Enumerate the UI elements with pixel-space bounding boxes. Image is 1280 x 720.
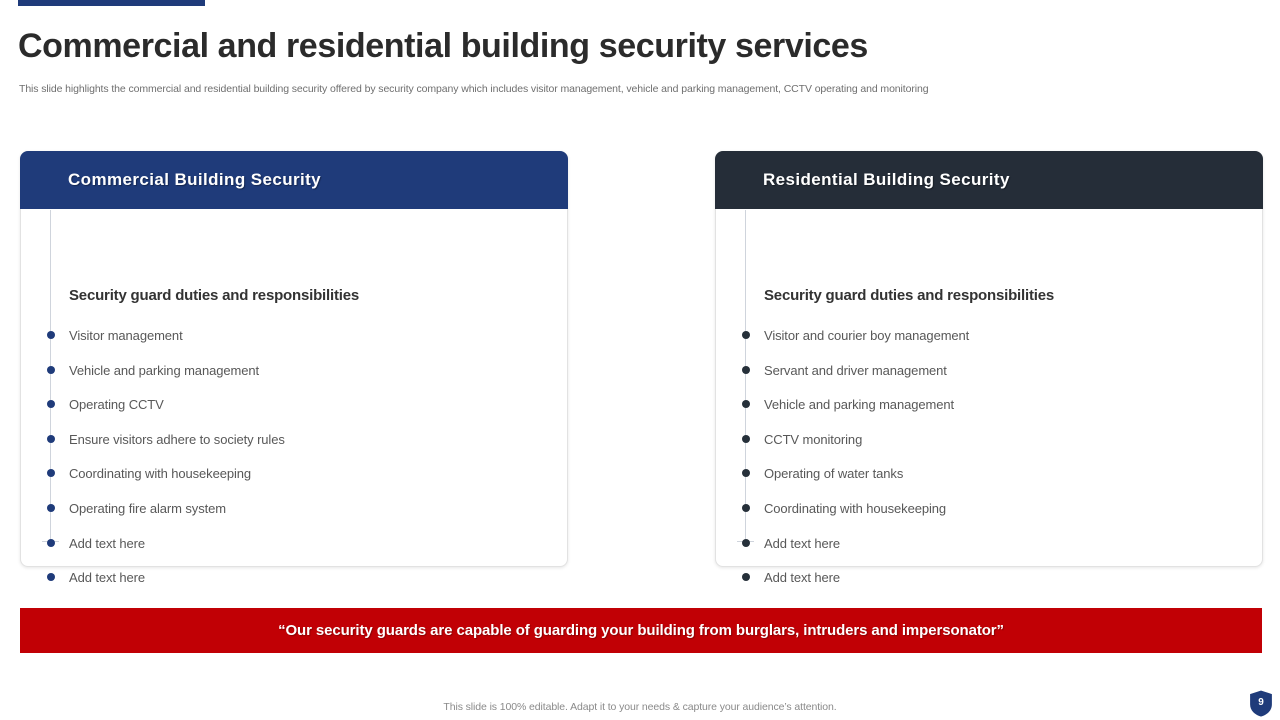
page-title: Commercial and residential building secu… — [18, 27, 868, 66]
page-subtitle: This slide highlights the commercial and… — [19, 83, 928, 95]
list-item: Coordinating with housekeeping — [21, 466, 567, 501]
list-item: Visitor and courier boy management — [716, 328, 1262, 363]
list-item-label: Servant and driver management — [764, 363, 947, 378]
list-item: Vehicle and parking management — [21, 363, 567, 398]
list-item-label: Add text here — [69, 570, 145, 585]
bullet-dot-icon — [742, 504, 750, 512]
list-item-label: Visitor and courier boy management — [764, 328, 969, 343]
bullet-dot-icon — [47, 539, 55, 547]
list-item: Add text here — [716, 570, 1262, 605]
list-item-label: Vehicle and parking management — [764, 397, 954, 412]
list-item-label: Visitor management — [69, 328, 183, 343]
bullet-list-residential: Visitor and courier boy management Serva… — [716, 328, 1262, 605]
list-item: Add text here — [21, 570, 567, 605]
bullet-dot-icon — [742, 331, 750, 339]
list-item-label: Vehicle and parking management — [69, 363, 259, 378]
footer-note: This slide is 100% editable. Adapt it to… — [0, 701, 1280, 713]
list-item: Operating fire alarm system — [21, 501, 567, 536]
bullet-dot-icon — [47, 366, 55, 374]
quote-text: “Our security guards are capable of guar… — [278, 622, 1004, 639]
bullet-dot-icon — [47, 573, 55, 581]
list-item: Operating of water tanks — [716, 466, 1262, 501]
section-title: Security guard duties and responsibiliti… — [69, 287, 359, 304]
section-title: Security guard duties and responsibiliti… — [764, 287, 1054, 304]
quote-banner: “Our security guards are capable of guar… — [20, 608, 1262, 653]
page-number-label: 9 — [1248, 689, 1274, 718]
list-item-label: Coordinating with housekeeping — [69, 466, 251, 481]
list-item: Operating CCTV — [21, 397, 567, 432]
bullet-dot-icon — [47, 504, 55, 512]
bullet-dot-icon — [742, 435, 750, 443]
card-header-residential: Residential Building Security — [715, 151, 1263, 209]
card-header-title: Commercial Building Security — [68, 170, 321, 190]
bullet-dot-icon — [47, 469, 55, 477]
card-header-title: Residential Building Security — [763, 170, 1010, 190]
page-number-badge: 9 — [1248, 689, 1274, 718]
top-accent-bar — [18, 0, 205, 6]
list-item-label: Operating fire alarm system — [69, 501, 226, 516]
list-item-label: CCTV monitoring — [764, 432, 862, 447]
bullet-dot-icon — [742, 366, 750, 374]
card-header-commercial: Commercial Building Security — [20, 151, 568, 209]
list-item-label: Ensure visitors adhere to society rules — [69, 432, 285, 447]
list-item-label: Add text here — [764, 536, 840, 551]
bullet-list-commercial: Visitor management Vehicle and parking m… — [21, 328, 567, 605]
list-item: Ensure visitors adhere to society rules — [21, 432, 567, 467]
list-item: Add text here — [716, 536, 1262, 571]
list-item-label: Add text here — [764, 570, 840, 585]
list-item: Vehicle and parking management — [716, 397, 1262, 432]
list-item: Coordinating with housekeeping — [716, 501, 1262, 536]
card-body-commercial: Security guard duties and responsibiliti… — [21, 210, 567, 567]
list-item-label: Add text here — [69, 536, 145, 551]
bullet-dot-icon — [742, 469, 750, 477]
list-item: Add text here — [21, 536, 567, 571]
list-item-label: Operating CCTV — [69, 397, 164, 412]
bullet-dot-icon — [47, 331, 55, 339]
list-item: CCTV monitoring — [716, 432, 1262, 467]
list-item-label: Operating of water tanks — [764, 466, 903, 481]
bullet-dot-icon — [742, 573, 750, 581]
card-commercial-building-security: Commercial Building Security Security gu… — [20, 151, 568, 567]
bullet-dot-icon — [742, 400, 750, 408]
list-item: Servant and driver management — [716, 363, 1262, 398]
list-item-label: Coordinating with housekeeping — [764, 501, 946, 516]
card-residential-building-security: Residential Building Security Security g… — [715, 151, 1263, 567]
bullet-dot-icon — [742, 539, 750, 547]
bullet-dot-icon — [47, 435, 55, 443]
bullet-dot-icon — [47, 400, 55, 408]
list-item: Visitor management — [21, 328, 567, 363]
card-body-residential: Security guard duties and responsibiliti… — [716, 210, 1262, 567]
